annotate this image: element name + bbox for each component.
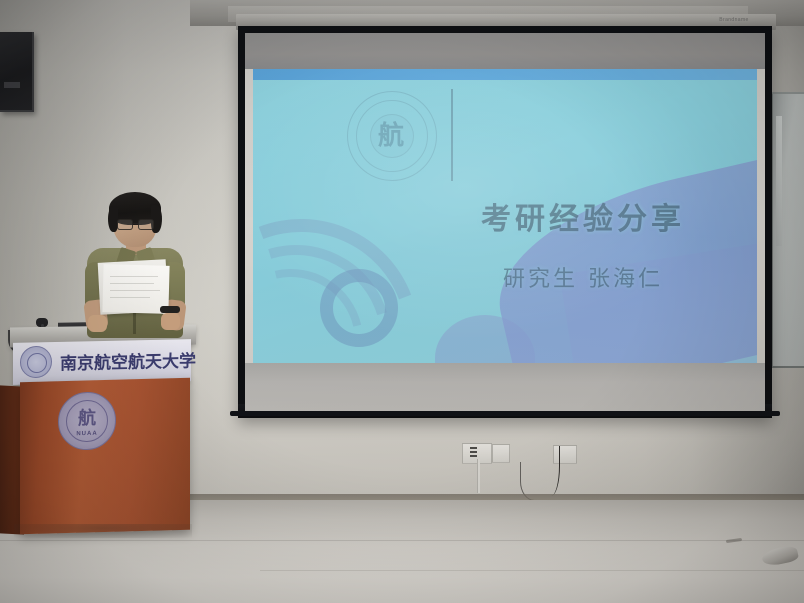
seal-acronym: NUAA — [71, 431, 103, 438]
slide-decor-ring — [320, 269, 398, 347]
wall-mounted-loudspeaker — [0, 32, 34, 112]
screen-unlit-bottom-band — [245, 363, 765, 411]
floor-tile-seam — [0, 540, 804, 541]
emblem-mark: 航 — [378, 118, 404, 152]
wall-plate-secondary — [492, 444, 510, 463]
nuaa-university-emblem-icon: 航 — [347, 91, 437, 181]
floor-tile-seam-secondary — [260, 570, 804, 571]
projection-screen-surface: 航 考研经验分享 研究生 张海仁 — [245, 33, 765, 411]
outlet-socket-icon — [470, 447, 482, 458]
podium-logo-inner-ring — [27, 353, 47, 373]
glasses-bridge — [132, 223, 139, 224]
slide-subtitle: 研究生 张海仁 — [503, 261, 753, 293]
slide-wave-front — [480, 129, 757, 363]
slide-vertical-divider — [451, 89, 453, 181]
paper-text-line — [110, 297, 150, 298]
seal-mark: 航 — [73, 405, 101, 432]
projection-screen-weight-bar — [230, 411, 780, 416]
podium-floor-shadow — [14, 524, 192, 538]
whiteboard-marker-tray — [776, 116, 782, 246]
paper-text-line — [110, 290, 160, 291]
presenter-wristwatch — [160, 306, 180, 313]
podium-sign-text: 南京航空航天大学 — [60, 347, 188, 375]
screen-unlit-top-band — [245, 33, 765, 69]
slide-top-accent-bar — [253, 69, 757, 80]
hanging-cable-white — [477, 459, 480, 493]
slide-title: 考研经验分享 — [481, 194, 749, 238]
paper-text-line — [110, 283, 154, 284]
speaker-grille-icon — [4, 82, 20, 88]
presenter-right-hand — [161, 313, 180, 330]
presenter-left-hand — [88, 315, 107, 332]
paper-text-line — [110, 276, 158, 277]
presenter-glasses-icon — [117, 219, 154, 228]
presentation-slide: 航 考研经验分享 研究生 张海仁 — [253, 69, 757, 363]
screen-brand-label: Brandname — [712, 17, 756, 24]
screenshot-root: Brandname 航 考研经验分享 研究生 张海仁 — [0, 0, 804, 603]
